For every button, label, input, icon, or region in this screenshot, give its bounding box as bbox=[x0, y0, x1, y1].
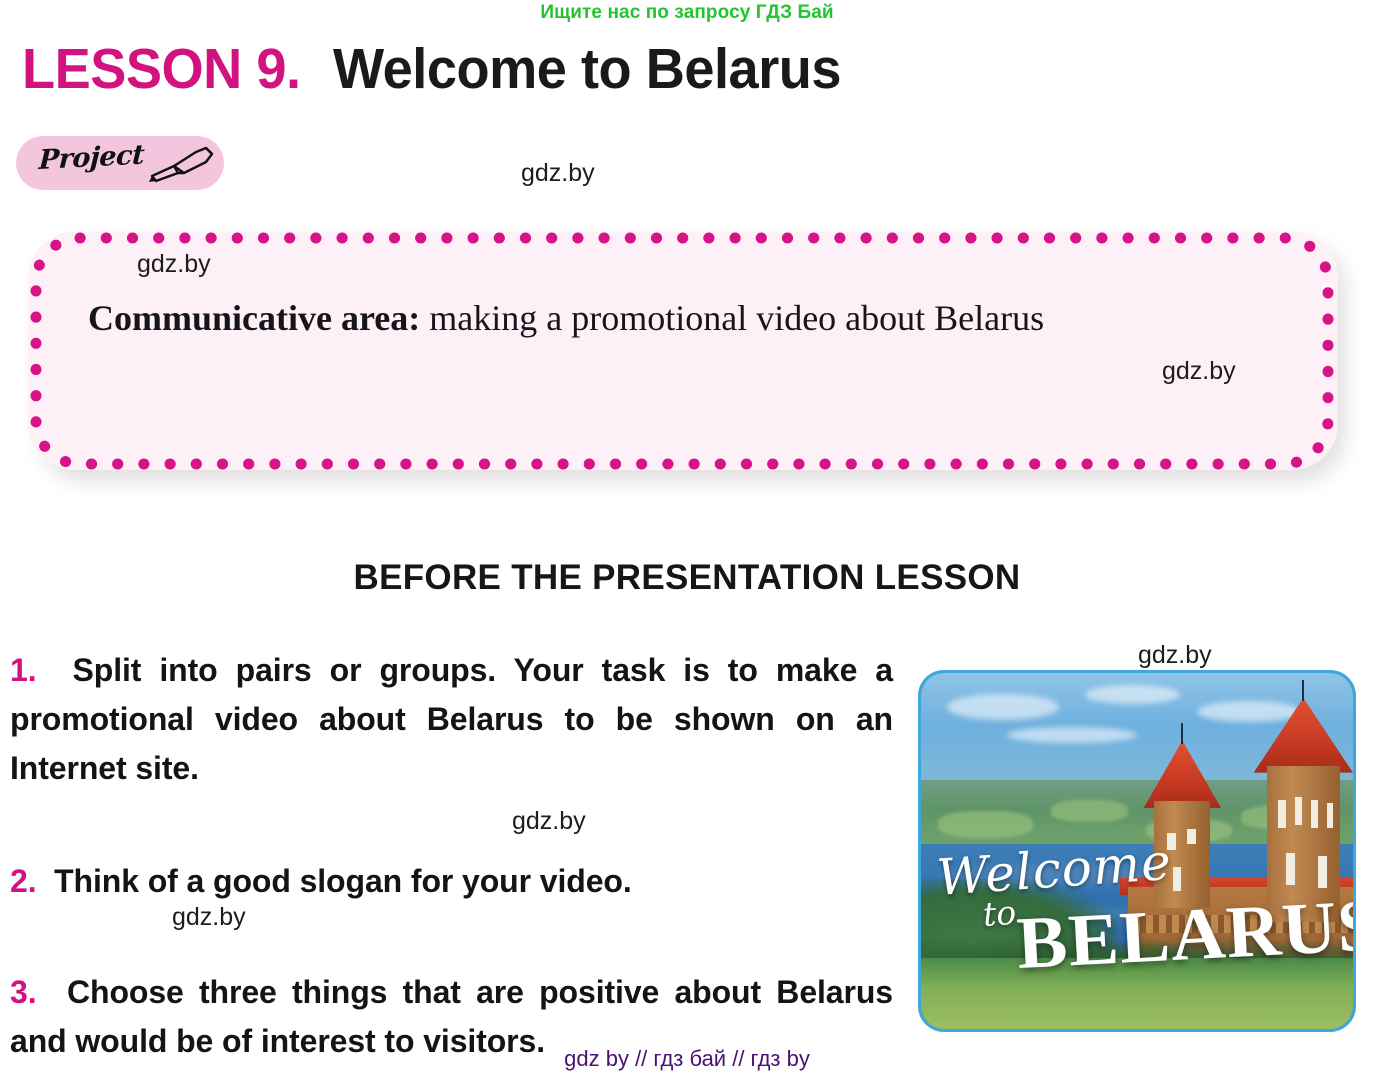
promo-banner-text: Ищите нас по запросу ГДЗ Бай bbox=[0, 2, 1374, 24]
watermark-gdz-picture: gdz.by bbox=[1138, 641, 1212, 670]
castle-spire-right bbox=[1302, 680, 1304, 701]
watermark-gdz-top: gdz.by bbox=[521, 159, 595, 188]
communicative-area-text: Communicative area: making a promotional… bbox=[88, 292, 1283, 345]
communicative-area-body: making a promotional video about Belarus bbox=[420, 298, 1044, 338]
project-badge: Project bbox=[16, 136, 224, 190]
welcome-to-belarus-picture: Welcome to BELARUS! bbox=[918, 670, 1356, 1032]
picture-caption-belarus: BELARUS! bbox=[1015, 885, 1356, 983]
picture-caption-to: to bbox=[982, 893, 1018, 934]
task-text-2: Think of a good slogan for your video. bbox=[54, 863, 632, 899]
project-badge-label: Project bbox=[38, 140, 145, 176]
castle-spire-left bbox=[1181, 723, 1183, 744]
task-list: 1. Split into pairs or groups. Your task… bbox=[10, 646, 893, 1066]
page-title: LESSON 9.Welcome to Belarus bbox=[22, 36, 868, 102]
lesson-number-label: LESSON 9. bbox=[22, 36, 301, 102]
watermark-gdz-box-top: gdz.by bbox=[137, 250, 211, 279]
communicative-area-label: Communicative area: bbox=[88, 298, 420, 338]
marker-pen-icon bbox=[144, 140, 224, 186]
watermark-gdz-box-right: gdz.by bbox=[1162, 357, 1236, 386]
task-item-2: 2. Think of a good slogan for your video… bbox=[10, 857, 893, 906]
footer-watermark: gdz by // гдз бай // гдз by bbox=[0, 1046, 1374, 1072]
lesson-name-label: Welcome to Belarus bbox=[333, 36, 841, 102]
task-item-1: 1. Split into pairs or groups. Your task… bbox=[10, 646, 893, 793]
task-number-1: 1. bbox=[10, 652, 37, 688]
section-heading: BEFORE THE PRESENTATION LESSON bbox=[0, 558, 1374, 598]
task-text-1: Split into pairs or groups. Your task is… bbox=[10, 652, 893, 786]
communicative-box bbox=[28, 232, 1338, 470]
task-number-3: 3. bbox=[10, 974, 37, 1010]
task-number-2: 2. bbox=[10, 863, 37, 899]
